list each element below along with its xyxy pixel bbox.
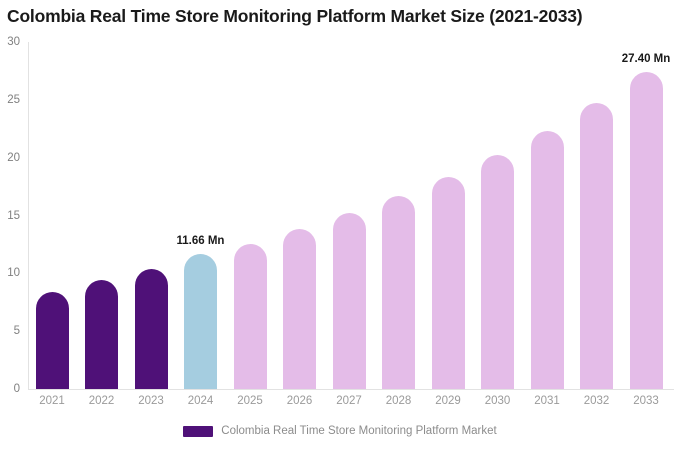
y-axis-tick-label: 5 <box>14 325 20 337</box>
chart-container: Colombia Real Time Store Monitoring Plat… <box>0 0 680 450</box>
x-axis-tick-label: 2029 <box>423 395 473 407</box>
bar-2023[interactable] <box>135 269 168 389</box>
y-axis-tick-label: 20 <box>7 152 20 164</box>
bar-2032[interactable] <box>580 103 613 389</box>
x-axis-tick-label: 2025 <box>225 395 275 407</box>
y-axis-tick-label: 0 <box>14 383 20 395</box>
y-axis-tick-label: 15 <box>7 210 20 222</box>
x-axis-tick-label: 2031 <box>522 395 572 407</box>
bar-2028[interactable] <box>382 196 415 389</box>
bar-2025[interactable] <box>234 244 267 389</box>
plot-area: 051015202530 <box>28 42 673 389</box>
y-axis-tick-label: 30 <box>7 36 20 48</box>
bar-2033[interactable] <box>630 72 663 389</box>
bar-2024[interactable] <box>184 254 217 389</box>
bar-2027[interactable] <box>333 213 366 389</box>
x-axis-tick-label: 2024 <box>176 395 226 407</box>
x-axis-tick-label: 2022 <box>77 395 127 407</box>
bar-value-label-2033: 27.40 Mn <box>601 53 680 65</box>
x-axis-tick-label: 2021 <box>27 395 77 407</box>
bar-2029[interactable] <box>432 177 465 389</box>
legend-label: Colombia Real Time Store Monitoring Plat… <box>221 425 496 437</box>
bar-value-label-2024: 11.66 Mn <box>156 235 246 247</box>
bar-2031[interactable] <box>531 131 564 390</box>
x-axis-line <box>28 389 674 390</box>
bar-2030[interactable] <box>481 155 514 389</box>
bar-2022[interactable] <box>85 280 118 389</box>
x-axis-tick-label: 2027 <box>324 395 374 407</box>
x-axis-tick-label: 2026 <box>275 395 325 407</box>
x-axis-tick-label: 2033 <box>621 395 671 407</box>
bar-2026[interactable] <box>283 229 316 389</box>
x-axis-tick-label: 2028 <box>374 395 424 407</box>
chart-title: Colombia Real Time Store Monitoring Plat… <box>7 6 582 27</box>
bar-2021[interactable] <box>36 292 69 389</box>
y-axis-tick-label: 10 <box>7 267 20 279</box>
x-axis-tick-label: 2030 <box>473 395 523 407</box>
x-axis-tick-label: 2032 <box>572 395 622 407</box>
legend-swatch-icon <box>183 426 213 437</box>
chart-legend: Colombia Real Time Store Monitoring Plat… <box>0 425 680 437</box>
x-axis-tick-label: 2023 <box>126 395 176 407</box>
y-axis-tick-label: 25 <box>7 94 20 106</box>
